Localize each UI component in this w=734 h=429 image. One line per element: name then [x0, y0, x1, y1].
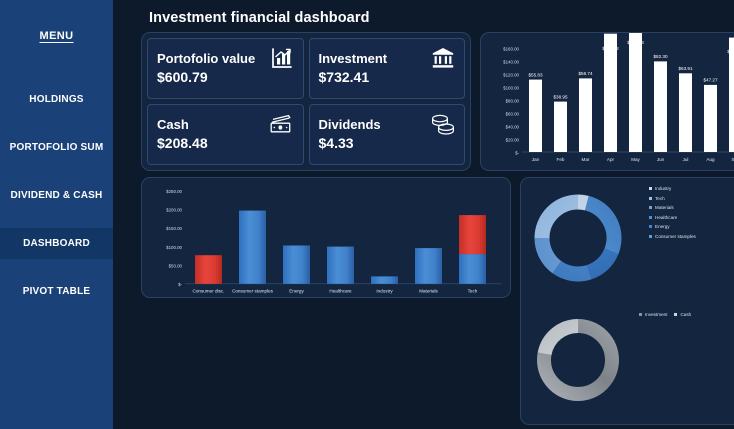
svg-text:$60.00: $60.00: [506, 112, 520, 117]
svg-text:$38.95: $38.95: [553, 94, 567, 99]
svg-text:Feb: Feb: [557, 157, 565, 162]
svg-text:Consumer disc.: Consumer disc.: [193, 289, 225, 294]
x-axis-labels: Jan Feb Mar Apr May Jun Jul Aug Sep: [532, 157, 734, 162]
svg-text:Jul: Jul: [683, 157, 689, 162]
svg-text:$140.53: $140.53: [627, 40, 644, 45]
kpi-card-cash[interactable]: Cash $208.48: [147, 104, 304, 165]
svg-text:Jan: Jan: [532, 157, 540, 162]
legend-item: Investment: [639, 312, 667, 317]
monthly-bar-chart-panel[interactable]: $160.00 $140.00 $120.00 $100.00 $80.00 $…: [480, 32, 734, 171]
bar-energy: [283, 246, 310, 284]
legend-label: Industry: [655, 186, 671, 191]
bar-healthcare: [327, 247, 354, 284]
x-axis-labels: Consumer disc. Consumer stamples Energy …: [193, 289, 478, 294]
kpi-value: $4.33: [319, 135, 456, 151]
legend-item: Industry: [649, 186, 696, 191]
svg-text:$100.00: $100.00: [166, 245, 182, 250]
svg-text:$82.30: $82.30: [653, 54, 667, 59]
bar-tech-investment: [459, 254, 486, 284]
main-content: Investment financial dashboard Portofoli…: [113, 0, 734, 429]
bar-consumer-disc: [195, 255, 222, 284]
kpi-value: $732.41: [319, 69, 456, 85]
donut-charts: [521, 178, 734, 426]
svg-text:Tech: Tech: [468, 289, 478, 294]
sector-donut-legend: Industry Tech Materials Healthcare Energ…: [649, 186, 696, 239]
legend-label: Cash: [680, 312, 691, 317]
kpi-card-dividends[interactable]: Dividends $4.33: [309, 104, 466, 165]
svg-text:Aug: Aug: [706, 157, 715, 162]
legend-label: Consumer stamples: [655, 234, 696, 239]
svg-text:$140.00: $140.00: [503, 60, 519, 65]
sidebar-item-pivot-table[interactable]: PIVOT TABLE: [0, 276, 113, 307]
svg-text:Jun: Jun: [657, 157, 665, 162]
svg-text:Apr: Apr: [607, 157, 615, 162]
svg-text:Industry: Industry: [376, 289, 393, 294]
svg-text:$55.83: $55.83: [528, 72, 542, 77]
legend-item: Healthcare: [649, 215, 696, 220]
sidebar-item-holdings[interactable]: HOLDINGS: [0, 84, 113, 115]
svg-text:$200.00: $200.00: [166, 208, 182, 213]
legend-item: Energy: [649, 224, 696, 229]
svg-text:$120.00: $120.00: [503, 73, 519, 78]
svg-text:Materials: Materials: [419, 289, 438, 294]
sidebar-item-dividend-and-cash[interactable]: DIVIDEND & CASH: [0, 180, 113, 211]
legend-item: Tech: [649, 196, 696, 201]
svg-text:Consumer stamples: Consumer stamples: [232, 289, 274, 294]
svg-text:$120.46: $120.46: [727, 49, 734, 54]
svg-text:$20.00: $20.00: [506, 138, 520, 143]
sidebar: MENU HOLDINGS PORTOFOLIO SUM DIVIDEND & …: [0, 0, 113, 429]
legend-item: Materials: [649, 205, 696, 210]
donut-charts-panel[interactable]: Industry Tech Materials Healthcare Energ…: [520, 177, 734, 425]
svg-text:$47.27: $47.27: [703, 78, 717, 83]
svg-text:$50.00: $50.00: [169, 263, 183, 268]
coins-icon: [430, 112, 456, 136]
kpi-value: $600.79: [157, 69, 294, 85]
legend-label: Healthcare: [655, 215, 677, 220]
svg-text:Mar: Mar: [582, 157, 590, 162]
bank-icon: [430, 46, 456, 70]
legend-label: Materials: [655, 205, 674, 210]
investment-cash-donut-chart: [538, 320, 618, 400]
kpi-card-group: Portofolio value $600.79: [141, 32, 471, 171]
sidebar-item-dashboard[interactable]: DASHBOARD: [0, 228, 113, 259]
svg-text:$-: $-: [515, 151, 519, 156]
page-title: Investment financial dashboard: [149, 10, 734, 26]
svg-text:$-: $-: [178, 282, 182, 287]
svg-text:$160.00: $160.00: [503, 47, 519, 52]
bar-industry: [371, 276, 398, 283]
sector-bar-chart-panel[interactable]: $250.00 $200.00 $150.00 $100.00 $50.00 $…: [141, 177, 511, 298]
y-axis-labels: $250.00 $200.00 $150.00 $100.00 $50.00 $…: [166, 189, 182, 287]
bar-chart-growth-icon: [269, 46, 295, 70]
bar-tech-value: [459, 215, 486, 254]
svg-text:$63.91: $63.91: [678, 66, 692, 71]
svg-text:$80.00: $80.00: [506, 99, 520, 104]
svg-text:May: May: [631, 157, 640, 162]
dashboard-root: MENU HOLDINGS PORTOFOLIO SUM DIVIDEND & …: [0, 0, 734, 429]
svg-text:$56.74: $56.74: [578, 71, 592, 76]
sidebar-item-portofolio-sum[interactable]: PORTOFOLIO SUM: [0, 132, 113, 163]
legend-item: Cash: [674, 312, 691, 317]
kpi-card-portofolio-value[interactable]: Portofolio value $600.79: [147, 38, 304, 99]
legend-label: Energy: [655, 224, 670, 229]
legend-label: Investment: [645, 312, 667, 317]
menu-title: MENU: [40, 30, 74, 42]
svg-text:$150.00: $150.00: [166, 226, 182, 231]
bars: [529, 33, 734, 152]
svg-text:$100.00: $100.00: [503, 86, 519, 91]
svg-text:Energy: Energy: [289, 289, 304, 294]
kpi-card-investment[interactable]: Investment $732.41: [309, 38, 466, 99]
bar-materials: [415, 248, 442, 284]
monthly-bar-chart: $160.00 $140.00 $120.00 $100.00 $80.00 $…: [481, 33, 734, 172]
y-axis-labels: $160.00 $140.00 $120.00 $100.00 $80.00 $…: [503, 47, 519, 156]
kpi-value: $208.48: [157, 135, 294, 151]
banknotes-icon: [269, 112, 295, 136]
svg-text:$126.42: $126.42: [602, 46, 619, 51]
sector-bar-chart: $250.00 $200.00 $150.00 $100.00 $50.00 $…: [142, 178, 512, 299]
sector-donut-chart: [528, 188, 629, 289]
svg-text:$250.00: $250.00: [166, 189, 182, 194]
legend-item: Consumer stamples: [649, 234, 696, 239]
svg-text:$40.00: $40.00: [506, 125, 520, 130]
bar-consumer-stamples: [239, 211, 266, 284]
svg-text:Healthcare: Healthcare: [329, 289, 352, 294]
bars: [195, 211, 486, 284]
legend-label: Tech: [655, 196, 665, 201]
investment-cash-donut-legend: Investment Cash: [639, 312, 691, 317]
